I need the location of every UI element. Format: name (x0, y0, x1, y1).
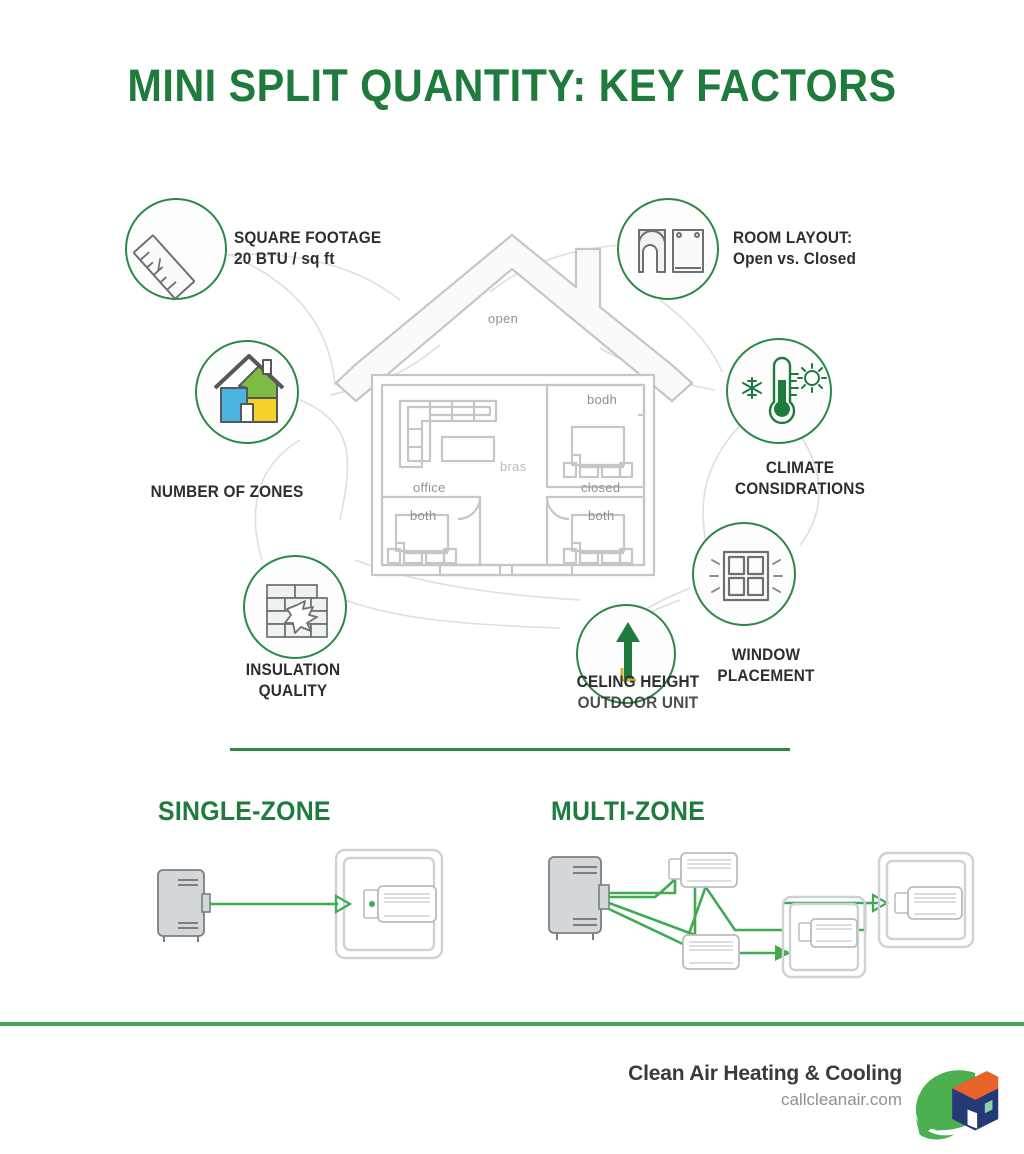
footer-divider (0, 1022, 1024, 1026)
label-outdoor-unit-subtitle: OUTDOOR UNIT (536, 693, 741, 714)
label-window-placement: WINDOW PLACEMENT (673, 645, 859, 687)
label-number-of-zones-title: NUMBER OF ZONES (143, 482, 310, 503)
plan-label-center: bras (500, 459, 527, 474)
section-divider (230, 748, 790, 751)
indoor-unit (799, 919, 857, 947)
single-zone-diagram (140, 838, 480, 978)
indoor-unit (364, 886, 436, 922)
outdoor-unit (549, 857, 609, 940)
brand-url: callcleanair.com (781, 1090, 902, 1110)
thermometer-sun-snowflake-icon (728, 340, 834, 446)
label-climate-title: CLIMATE (707, 458, 893, 479)
label-room-layout-title: ROOM LAYOUT: (733, 228, 919, 249)
infographic-canvas: MINI SPLIT QUANTITY: KEY FACTORS (0, 0, 1024, 1154)
plan-label-closed: closed (581, 480, 620, 495)
indoor-unit (895, 887, 962, 919)
plan-label-attic: open (488, 311, 518, 326)
label-climate-considerations: CLIMATE CONSIDRATIONS (707, 458, 893, 500)
label-insulation-subtitle: QUALITY (200, 681, 386, 702)
label-square-footage-subtitle: 20 BTU / sq ft (234, 249, 420, 270)
label-window-title: WINDOW (673, 645, 859, 666)
indoor-unit (669, 853, 737, 887)
badge-insulation-quality[interactable] (243, 555, 347, 659)
hand-holding-house-logo (908, 1048, 1004, 1144)
badge-room-layout[interactable] (617, 198, 719, 300)
brand-name: Clean Air Heating & Cooling (628, 1062, 902, 1086)
label-insulation-title: INSULATION (200, 660, 386, 681)
plan-label-office: office (413, 480, 446, 495)
arch-door-icon (619, 200, 721, 302)
window-icon (694, 524, 798, 628)
plan-label-bedroom-bottom-left: both (410, 508, 437, 523)
multi-zone-heading: MULTI-ZONE (551, 796, 705, 827)
badge-window-placement[interactable] (692, 522, 796, 626)
colored-house-icon (197, 342, 301, 446)
single-zone-heading: SINGLE-ZONE (158, 796, 331, 827)
refrigerant-line (210, 896, 350, 912)
label-insulation-quality: INSULATION QUALITY (200, 660, 386, 702)
brick-wall-icon (245, 557, 349, 661)
label-number-of-zones: NUMBER OF ZONES (143, 482, 310, 503)
ruler-icon (127, 200, 229, 302)
outdoor-unit (158, 870, 210, 942)
plan-label-bedroom-top-right: bodh (587, 392, 617, 407)
plan-label-bedroom-bottom-right: both (588, 508, 615, 523)
indoor-unit (683, 935, 739, 969)
badge-number-of-zones[interactable] (195, 340, 299, 444)
label-room-layout: ROOM LAYOUT: Open vs. Closed (733, 228, 919, 270)
label-room-layout-subtitle: Open vs. Closed (733, 249, 919, 270)
multi-zone-diagram (535, 835, 985, 980)
badge-climate-considerations[interactable] (726, 338, 832, 444)
label-window-subtitle: PLACEMENT (673, 666, 859, 687)
label-climate-subtitle: CONSIDRATIONS (707, 479, 893, 500)
label-square-footage: SQUARE FOOTAGE 20 BTU / sq ft (234, 228, 420, 270)
badge-square-footage[interactable] (125, 198, 227, 300)
label-square-footage-title: SQUARE FOOTAGE (234, 228, 420, 249)
